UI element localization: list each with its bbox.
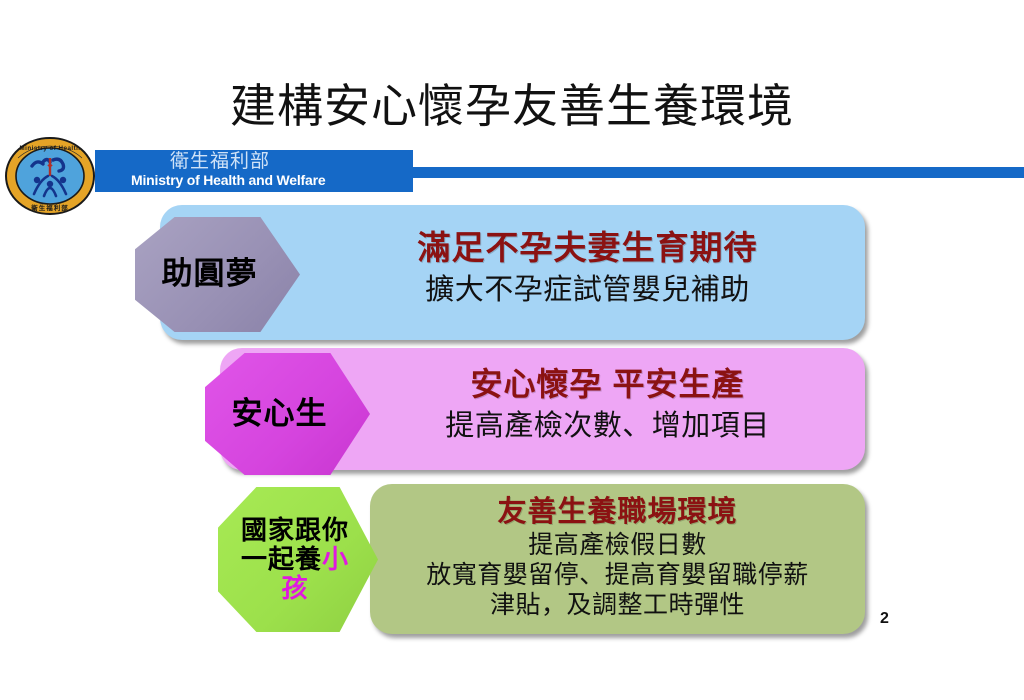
row-3-tag-line-2a: 一起養	[241, 544, 322, 574]
ministry-banner: 衛生福利部 Ministry of Health and Welfare	[0, 148, 1024, 204]
row-3-tag-line-3: 孩	[281, 573, 308, 603]
row-3-text-block: 友善生養職場環境 提高產檢假日數 放寬育嬰留停、提高育嬰留職停薪 津貼，及調整工…	[370, 494, 865, 620]
row-3-subtext-line-2: 放寬育嬰留停、提高育嬰留職停薪	[370, 560, 865, 590]
row-3-tag-label: 國家跟你 一起養小 孩	[241, 516, 349, 603]
page-title: 建構安心懷孕友善生養環境	[0, 78, 1024, 134]
svg-text:衛生福利部: 衛生福利部	[30, 203, 69, 212]
row-2-tag-label: 安心生	[232, 398, 328, 431]
row-3-heading: 友善生養職場環境	[370, 494, 865, 530]
page-number: 2	[880, 610, 889, 628]
row-3-subtext-line-3: 津貼，及調整工時彈性	[370, 590, 865, 620]
row-1-subtext: 擴大不孕症試管嬰兒補助	[310, 269, 865, 311]
banner-org-name-zh: 衛生福利部	[170, 150, 270, 173]
row-3-hexagon-tag: 國家跟你 一起養小 孩	[218, 487, 378, 632]
row-3-subtext-line-1: 提高產檢假日數	[370, 530, 865, 560]
row-1-tag-label: 助圓夢	[162, 258, 258, 291]
banner-org-name-en: Ministry of Health and Welfare	[131, 172, 325, 189]
row-2-heading: 安心懷孕 平安生產	[350, 363, 865, 405]
row-1-heading: 滿足不孕夫妻生育期待	[310, 227, 865, 269]
banner-rule	[380, 167, 1024, 178]
row-2-subtext: 提高產檢次數、增加項目	[350, 405, 865, 447]
row-3-panel: 友善生養職場環境 提高產檢假日數 放寬育嬰留停、提高育嬰留職停薪 津貼，及調整工…	[370, 484, 865, 634]
row-3-tag-line-2b: 小	[322, 544, 349, 574]
row-3-tag-line-1: 國家跟你	[241, 515, 349, 545]
